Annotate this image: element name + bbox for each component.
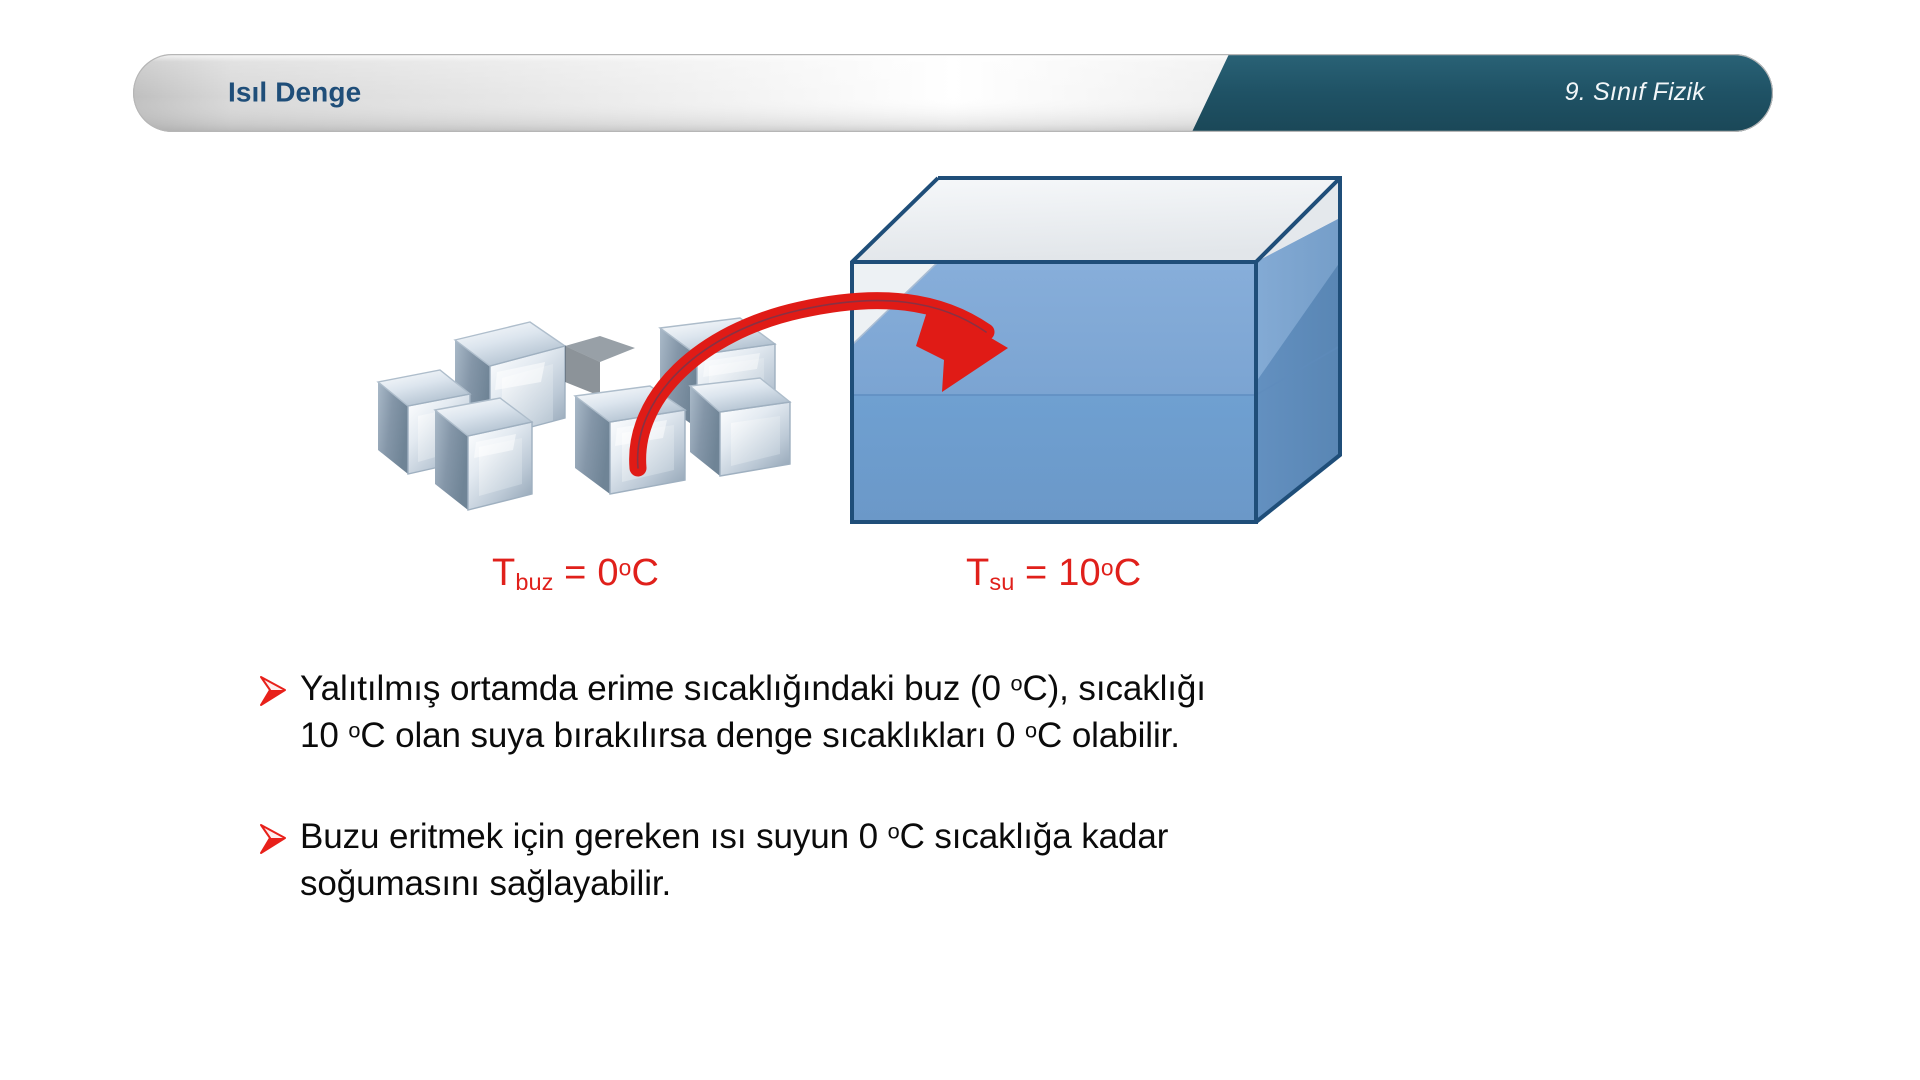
- water-temp-symbol: T: [966, 552, 989, 594]
- ice-temp-subscript: buz: [515, 569, 553, 595]
- ice-temp-value: 0: [597, 552, 618, 594]
- bullet-line: Buzu eritmek için gereken ısı suyun 0 oC…: [300, 817, 1168, 856]
- bullet-line: soğumasını sağlayabilir.: [300, 864, 671, 903]
- ice-temperature-label: Tbuz = 0oC: [492, 552, 659, 596]
- figure-diagram: [0, 150, 1920, 570]
- ice-cubes-cluster: [378, 318, 790, 510]
- bullet-text: Yalıtılmış ortamda erime sıcaklığındaki …: [300, 666, 1678, 760]
- arrow-bullet-icon: [258, 814, 300, 855]
- water-temp-unit: C: [1114, 552, 1142, 594]
- arrow-bullet-icon: [258, 666, 300, 707]
- bullet-line: Yalıtılmış ortamda erime sıcaklığındaki …: [300, 669, 1206, 708]
- ice-temp-equals: =: [553, 552, 597, 594]
- degree-icon: o: [619, 554, 632, 580]
- water-temp-value: 10: [1058, 552, 1101, 594]
- header-banner: Isıl Denge 9. Sınıf Fizik: [133, 54, 1773, 132]
- bullet-line: 10 oC olan suya bırakılırsa denge sıcakl…: [300, 716, 1180, 755]
- bullet-text: Buzu eritmek için gereken ısı suyun 0 oC…: [300, 814, 1678, 908]
- bullet-list: Yalıtılmış ortamda erime sıcaklığındaki …: [258, 666, 1678, 962]
- water-temp-equals: =: [1014, 552, 1058, 594]
- water-temp-subscript: su: [989, 569, 1014, 595]
- page-title: Isıl Denge: [228, 76, 361, 108]
- water-temperature-label: Tsu = 10oC: [966, 552, 1141, 596]
- ice-temp-symbol: T: [492, 552, 515, 594]
- header-subject-label: 9. Sınıf Fizik: [1565, 78, 1705, 107]
- list-item: Buzu eritmek için gereken ısı suyun 0 oC…: [258, 814, 1678, 908]
- degree-icon: o: [1101, 554, 1114, 580]
- list-item: Yalıtılmış ortamda erime sıcaklığındaki …: [258, 666, 1678, 760]
- ice-temp-unit: C: [632, 552, 660, 594]
- slide-canvas: Isıl Denge 9. Sınıf Fizik: [0, 0, 1920, 1080]
